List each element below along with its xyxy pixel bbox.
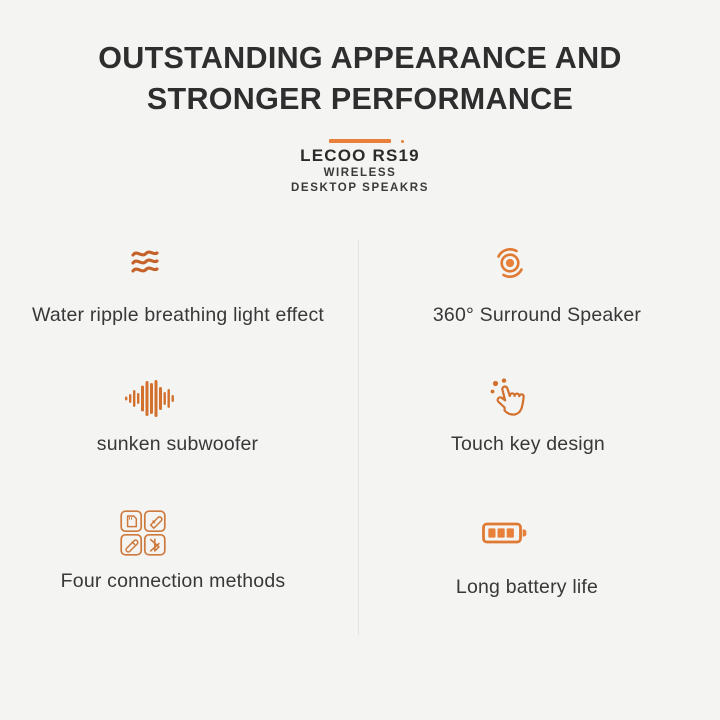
brand-subtitle-line-2: DESKTOP SPEAKRS (0, 181, 720, 196)
page-title: OUTSTANDING APPEARANCE AND STRONGER PERF… (0, 0, 720, 120)
water-ripple-icon (125, 235, 165, 291)
brand-accent-bar (329, 139, 391, 143)
brand-subtitle-line-1: WIRELESS (0, 166, 720, 181)
sound-wave-icon (124, 370, 176, 426)
feature-label: Long battery life (456, 575, 598, 599)
surround-speaker-icon (491, 235, 529, 291)
feature-grid: Water ripple breathing light effect 360°… (0, 235, 720, 640)
feature-label: Water ripple breathing light effect (32, 303, 324, 327)
feature-item-connections: Four connection methods (0, 505, 358, 640)
feature-item-surround-speaker: 360° Surround Speaker (358, 235, 720, 370)
feature-label: Touch key design (451, 432, 605, 456)
connection-grid-icon (120, 505, 166, 561)
page-title-line-1: OUTSTANDING APPEARANCE AND (0, 38, 720, 79)
feature-item-touch-key: Touch key design (358, 370, 720, 505)
brand-name: LECOO RS19 (0, 146, 720, 166)
feature-label: Four connection methods (61, 569, 286, 593)
feature-item-battery: Long battery life (358, 505, 720, 640)
brand-block: LECOO RS19 WIRELESS DESKTOP SPEAKRS (0, 139, 720, 195)
page-title-line-2: STRONGER PERFORMANCE (0, 79, 720, 120)
battery-icon (482, 505, 528, 561)
feature-item-subwoofer: sunken subwoofer (0, 370, 358, 505)
touch-hand-icon (489, 370, 529, 426)
feature-item-water-ripple: Water ripple breathing light effect (0, 235, 358, 370)
feature-label: sunken subwoofer (97, 432, 258, 456)
feature-label: 360° Surround Speaker (433, 303, 641, 327)
